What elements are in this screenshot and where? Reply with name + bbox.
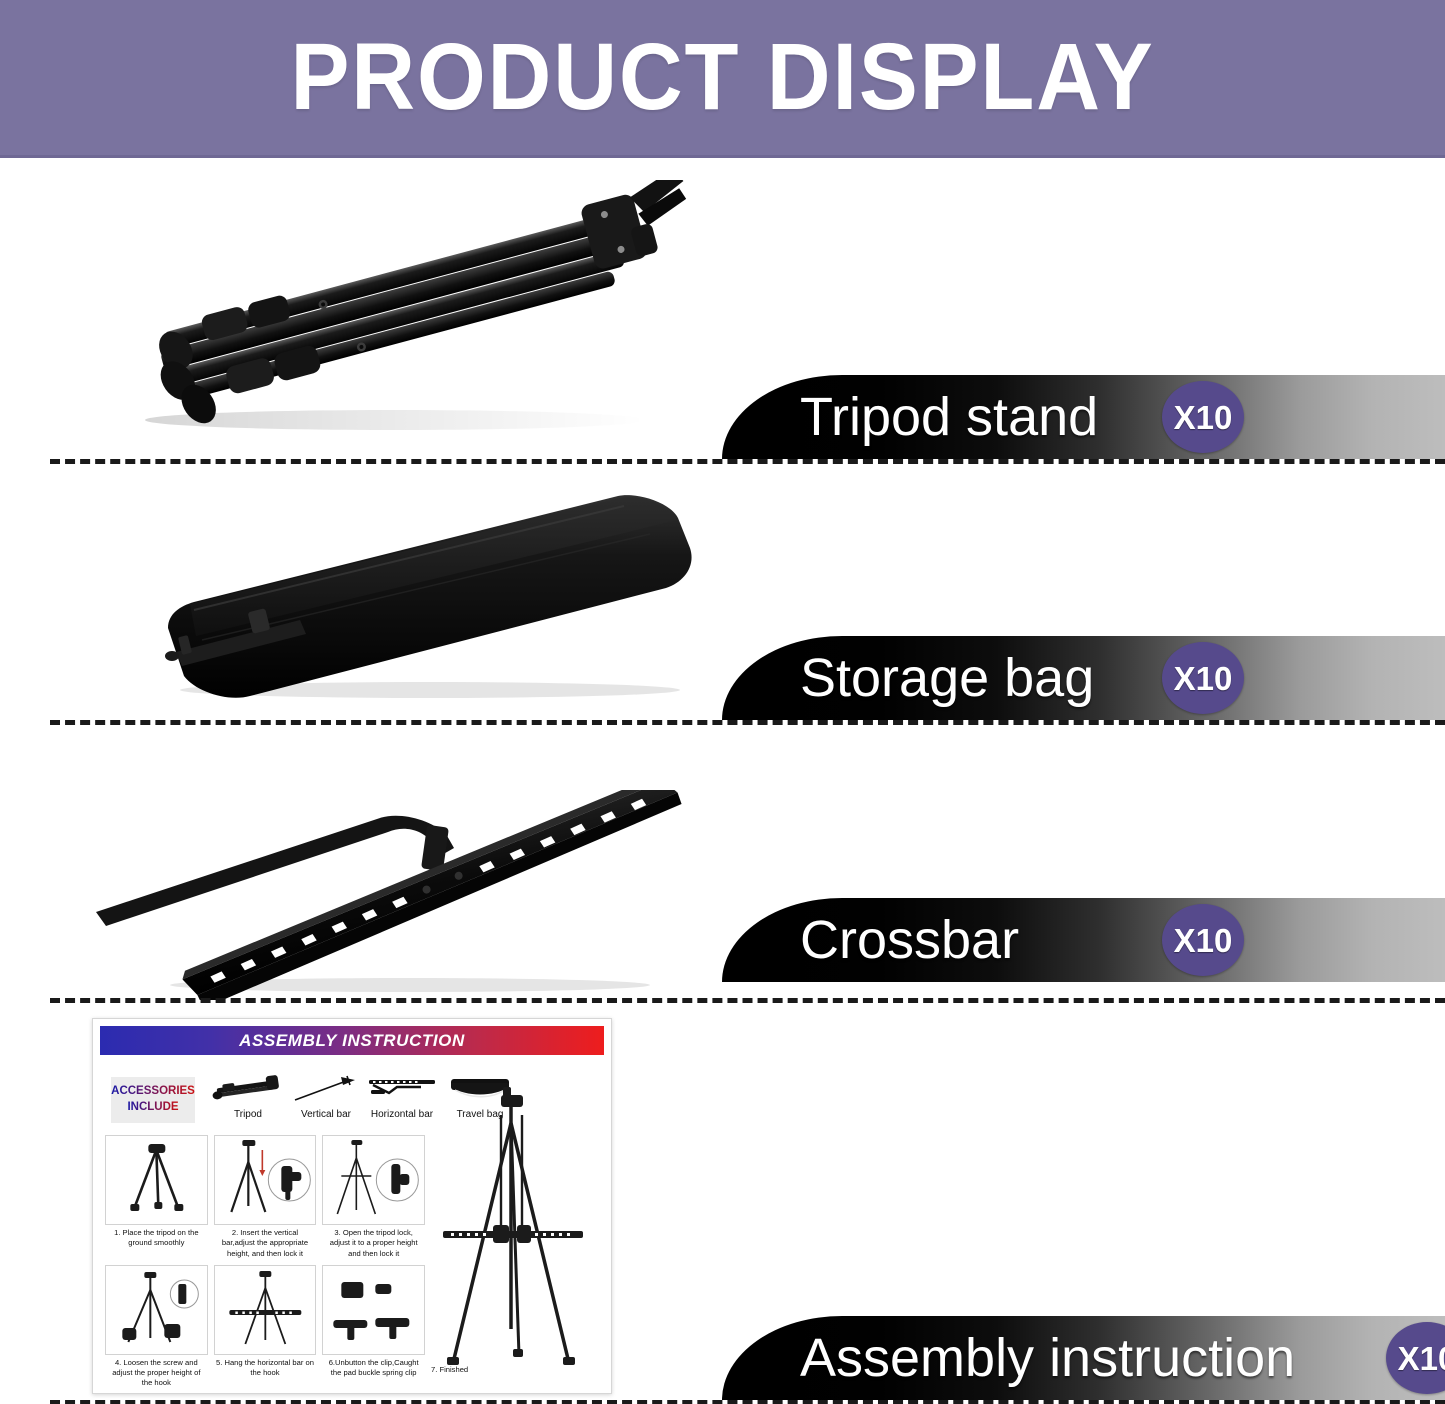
page-banner: PRODUCT DISPLAY bbox=[0, 0, 1445, 158]
accessories-label-line1: ACCESSORIES bbox=[111, 1084, 195, 1100]
final-step-caption: 7. Finished bbox=[431, 1365, 468, 1374]
assembly-instruction-sheet: ASSEMBLY INSTRUCTION ACCESSORIES INCLUDE bbox=[92, 1018, 612, 1394]
accessory-item-tripod: Tripod bbox=[209, 1073, 287, 1120]
step-image-6 bbox=[322, 1265, 425, 1355]
step-caption: 2. Insert the vertical bar,adjust the ap… bbox=[214, 1225, 317, 1265]
step-caption: 5. Hang the horizontal bar on the hook bbox=[214, 1355, 317, 1390]
qty-badge: X10 bbox=[1162, 381, 1244, 453]
label-bar-tripod-stand: Tripod stand X10 bbox=[722, 375, 1445, 459]
sheet-header-bar: ASSEMBLY INSTRUCTION bbox=[100, 1026, 604, 1055]
accessories-include-badge: ACCESSORIES INCLUDE bbox=[111, 1077, 195, 1123]
qty-badge-text: X10 bbox=[1174, 662, 1233, 695]
label-text: Crossbar bbox=[800, 913, 1019, 967]
step-cell-1: 1. Place the tripod on the ground smooth… bbox=[105, 1135, 208, 1265]
qty-badge: X10 bbox=[1162, 904, 1244, 976]
tripod-illustration bbox=[95, 180, 715, 445]
step-caption: 3. Open the tripod lock, adjust it to a … bbox=[322, 1225, 425, 1265]
qty-badge: X10 bbox=[1162, 642, 1244, 714]
tripod-accessory-icon bbox=[209, 1073, 287, 1105]
step-cell-2: 2. Insert the vertical bar,adjust the ap… bbox=[214, 1135, 317, 1265]
qty-badge-text: X10 bbox=[1398, 1342, 1445, 1375]
product-display-page: PRODUCT DISPLAY bbox=[0, 0, 1445, 1404]
assembled-easel-illustration bbox=[423, 1079, 603, 1379]
page-title: PRODUCT DISPLAY bbox=[290, 30, 1154, 125]
label-bar-assembly-instruction: Assembly instruction X10 bbox=[722, 1316, 1445, 1400]
step-image-5 bbox=[214, 1265, 317, 1355]
label-bar-storage-bag: Storage bag X10 bbox=[722, 636, 1445, 720]
step-caption: 6.Unbutton the clip,Caught the pad buckl… bbox=[322, 1355, 425, 1390]
accessories-label-line2: INCLUDE bbox=[127, 1100, 178, 1116]
row-divider-1 bbox=[50, 459, 1445, 464]
sheet-header-title: ASSEMBLY INSTRUCTION bbox=[239, 1031, 465, 1051]
qty-badge: X10 bbox=[1386, 1322, 1445, 1394]
qty-badge-text: X10 bbox=[1174, 401, 1233, 434]
accessory-caption: Vertical bar bbox=[287, 1109, 365, 1120]
step-cell-3: 3. Open the tripod lock, adjust it to a … bbox=[322, 1135, 425, 1265]
step-caption: 4. Loosen the screw and adjust the prope… bbox=[105, 1355, 208, 1394]
crossbar-illustration bbox=[80, 790, 725, 1000]
step-image-3 bbox=[322, 1135, 425, 1225]
step-grid-row-2: 4. Loosen the screw and adjust the prope… bbox=[105, 1265, 425, 1394]
step-cell-5: 5. Hang the horizontal bar on the hook bbox=[214, 1265, 317, 1394]
step-image-2 bbox=[214, 1135, 317, 1225]
storage-bag-illustration bbox=[150, 490, 710, 705]
qty-badge-text: X10 bbox=[1174, 924, 1233, 957]
step-image-4 bbox=[105, 1265, 208, 1355]
label-bar-crossbar: Crossbar X10 bbox=[722, 898, 1445, 982]
row-divider-3 bbox=[50, 998, 1445, 1003]
label-text: Assembly instruction bbox=[800, 1331, 1295, 1385]
vertical-bar-accessory-icon bbox=[287, 1073, 365, 1105]
accessory-item-vertical-bar: Vertical bar bbox=[287, 1073, 365, 1120]
label-text: Storage bag bbox=[800, 651, 1094, 705]
step-image-1 bbox=[105, 1135, 208, 1225]
step-cell-4: 4. Loosen the screw and adjust the prope… bbox=[105, 1265, 208, 1394]
row-divider-4 bbox=[50, 1400, 1445, 1404]
folded-tripod-photo bbox=[95, 180, 715, 445]
crossbar-photo bbox=[80, 790, 725, 1000]
storage-bag-photo bbox=[150, 490, 710, 705]
label-text: Tripod stand bbox=[800, 390, 1098, 444]
accessory-caption: Tripod bbox=[209, 1109, 287, 1120]
step-caption: 1. Place the tripod on the ground smooth… bbox=[105, 1225, 208, 1260]
row-divider-2 bbox=[50, 720, 1445, 725]
step-grid-row-1: 1. Place the tripod on the ground smooth… bbox=[105, 1135, 425, 1265]
instruction-steps: 1. Place the tripod on the ground smooth… bbox=[105, 1135, 425, 1394]
step-cell-6: 6.Unbutton the clip,Caught the pad buckl… bbox=[322, 1265, 425, 1394]
